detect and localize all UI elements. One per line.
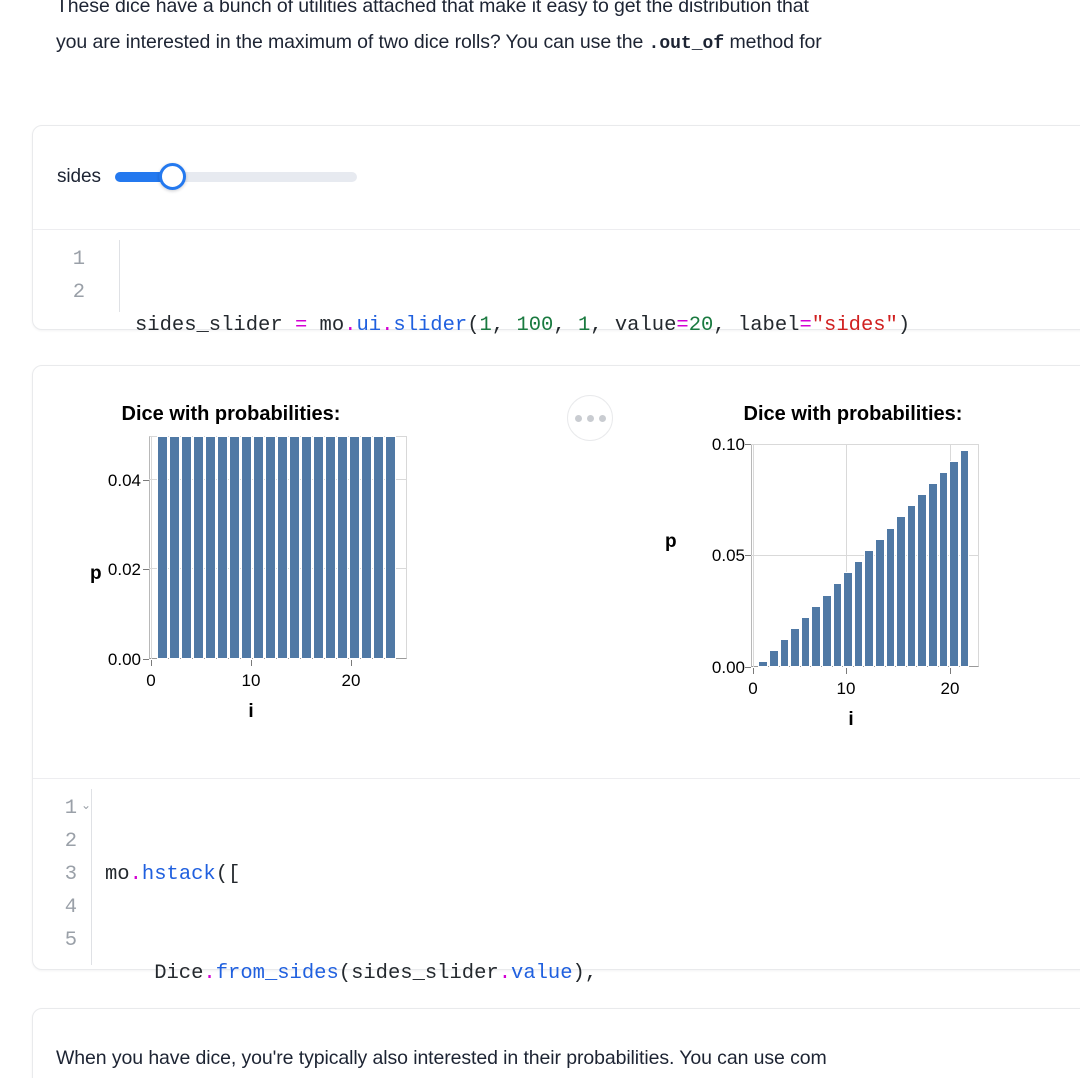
bar bbox=[169, 436, 180, 659]
bar bbox=[896, 516, 906, 667]
line-number: 1 bbox=[59, 243, 85, 276]
bar bbox=[349, 436, 360, 659]
bar bbox=[780, 639, 790, 667]
xtick-label: 0 bbox=[723, 679, 783, 699]
line-number: 2 bbox=[51, 825, 77, 858]
chart-max-of-2: Dice with probabilities: p 0.00 0.05 0.1… bbox=[633, 391, 1013, 751]
bar bbox=[325, 436, 336, 659]
cell-divider bbox=[33, 778, 1080, 779]
xtick-mark bbox=[351, 660, 352, 666]
bar bbox=[181, 436, 192, 659]
bar bbox=[843, 572, 853, 667]
ytick-mark bbox=[143, 480, 149, 481]
xtick-mark bbox=[950, 668, 951, 674]
bar bbox=[907, 505, 917, 667]
more-options-button[interactable] bbox=[567, 395, 613, 441]
bar-series bbox=[751, 444, 979, 667]
line-number: 2 bbox=[59, 276, 85, 309]
xtick-mark bbox=[753, 668, 754, 674]
code-gutter-1: 1 2 bbox=[59, 243, 85, 309]
paragraph-bottom-text: When you have dice, you're typically als… bbox=[56, 1047, 827, 1069]
bar bbox=[801, 617, 811, 667]
cell-charts: Dice with probabilities: p 0.00 0.02 0.0… bbox=[32, 365, 1080, 970]
chart-xlabel: i bbox=[796, 709, 906, 731]
ytick-label: 0.04 bbox=[69, 471, 141, 491]
xtick-label: 20 bbox=[321, 671, 381, 691]
ytick-label: 0.00 bbox=[69, 650, 141, 670]
xtick-label: 10 bbox=[221, 671, 281, 691]
code-line: sides_slider = mo.ui.slider(1, 100, 1, v… bbox=[135, 309, 910, 342]
bar bbox=[361, 436, 372, 659]
paragraph-line2-a: you are interested in the maximum of two… bbox=[56, 31, 643, 53]
bar bbox=[875, 539, 885, 667]
bar bbox=[385, 436, 396, 659]
bar bbox=[205, 436, 216, 659]
plot-area bbox=[149, 436, 407, 659]
bar bbox=[811, 606, 821, 667]
paragraph-top-text: These dice have a bunch of utilities att… bbox=[56, 0, 809, 17]
bar bbox=[758, 661, 768, 667]
ytick-label: 0.05 bbox=[669, 546, 745, 566]
ytick-mark bbox=[745, 555, 751, 556]
chart-xlabel: i bbox=[196, 701, 306, 723]
bar bbox=[301, 436, 312, 659]
ytick-label: 0.02 bbox=[69, 560, 141, 580]
bar-series bbox=[149, 436, 407, 659]
slider-control-row[interactable]: sides bbox=[57, 166, 357, 188]
bar bbox=[769, 650, 779, 667]
bar bbox=[193, 436, 204, 659]
code-line: mo.hstack([ bbox=[105, 858, 782, 891]
chart-uniform: Dice with probabilities: p 0.00 0.02 0.0… bbox=[61, 391, 421, 751]
plot-area bbox=[751, 444, 979, 667]
ytick-mark bbox=[143, 659, 149, 660]
xtick-mark bbox=[251, 660, 252, 666]
bar bbox=[790, 628, 800, 667]
ytick-mark bbox=[745, 667, 751, 668]
dot-icon bbox=[587, 415, 594, 422]
xtick-label: 0 bbox=[121, 671, 181, 691]
bar bbox=[960, 450, 970, 667]
bar bbox=[277, 436, 288, 659]
bar bbox=[822, 595, 832, 667]
xtick-mark bbox=[151, 660, 152, 666]
code-gutter-2: 1 2 3 4 5 bbox=[51, 792, 77, 957]
bar bbox=[241, 436, 252, 659]
paragraph-line2-b: method for bbox=[729, 31, 821, 53]
gutter-rule bbox=[119, 240, 120, 312]
dot-icon bbox=[599, 415, 606, 422]
xtick-label: 10 bbox=[816, 679, 876, 699]
cell-divider bbox=[33, 229, 1080, 230]
bar bbox=[949, 461, 959, 667]
bar bbox=[373, 436, 384, 659]
bar bbox=[917, 494, 927, 667]
bar bbox=[313, 436, 324, 659]
ytick-mark bbox=[143, 569, 149, 570]
gutter-rule bbox=[91, 789, 92, 965]
notebook-page: These dice have a bunch of utilities att… bbox=[0, 0, 1080, 1078]
bar bbox=[265, 436, 276, 659]
bar bbox=[864, 550, 874, 667]
line-number: 1 bbox=[51, 792, 77, 825]
dot-icon bbox=[575, 415, 582, 422]
bar bbox=[886, 528, 896, 667]
line-number: 3 bbox=[51, 858, 77, 891]
cell-slider: sides 1 2 sides_slider = mo.ui.slider(1,… bbox=[32, 125, 1080, 330]
line-number: 4 bbox=[51, 891, 77, 924]
slider-label: sides bbox=[57, 166, 101, 188]
inline-code-out-of: .out_of bbox=[649, 34, 725, 54]
paragraph-top-line2: you are interested in the maximum of two… bbox=[56, 26, 822, 61]
slider-thumb[interactable] bbox=[159, 163, 186, 190]
xtick-label: 20 bbox=[920, 679, 980, 699]
ytick-mark bbox=[745, 444, 751, 445]
ytick-label: 0.00 bbox=[669, 658, 745, 678]
fold-toggle-icon[interactable]: ⌄ bbox=[81, 798, 91, 812]
code-line: Dice.from_sides(sides_slider.value), bbox=[105, 957, 782, 990]
bar bbox=[289, 436, 300, 659]
paragraph-top-clipped: These dice have a bunch of utilities att… bbox=[56, 0, 809, 23]
bar bbox=[217, 436, 228, 659]
chart-title: Dice with probabilities: bbox=[683, 403, 1023, 426]
bar bbox=[337, 436, 348, 659]
bar bbox=[854, 561, 864, 667]
xtick-mark bbox=[846, 668, 847, 674]
bar bbox=[833, 583, 843, 667]
bar bbox=[229, 436, 240, 659]
line-number: 5 bbox=[51, 924, 77, 957]
bar bbox=[157, 436, 168, 659]
chart-title: Dice with probabilities: bbox=[61, 403, 401, 426]
bar bbox=[939, 472, 949, 667]
bar bbox=[253, 436, 264, 659]
bar bbox=[928, 483, 938, 667]
paragraph-bottom: When you have dice, you're typically als… bbox=[56, 1042, 827, 1075]
slider-input[interactable] bbox=[115, 172, 357, 182]
ytick-label: 0.10 bbox=[669, 435, 745, 455]
